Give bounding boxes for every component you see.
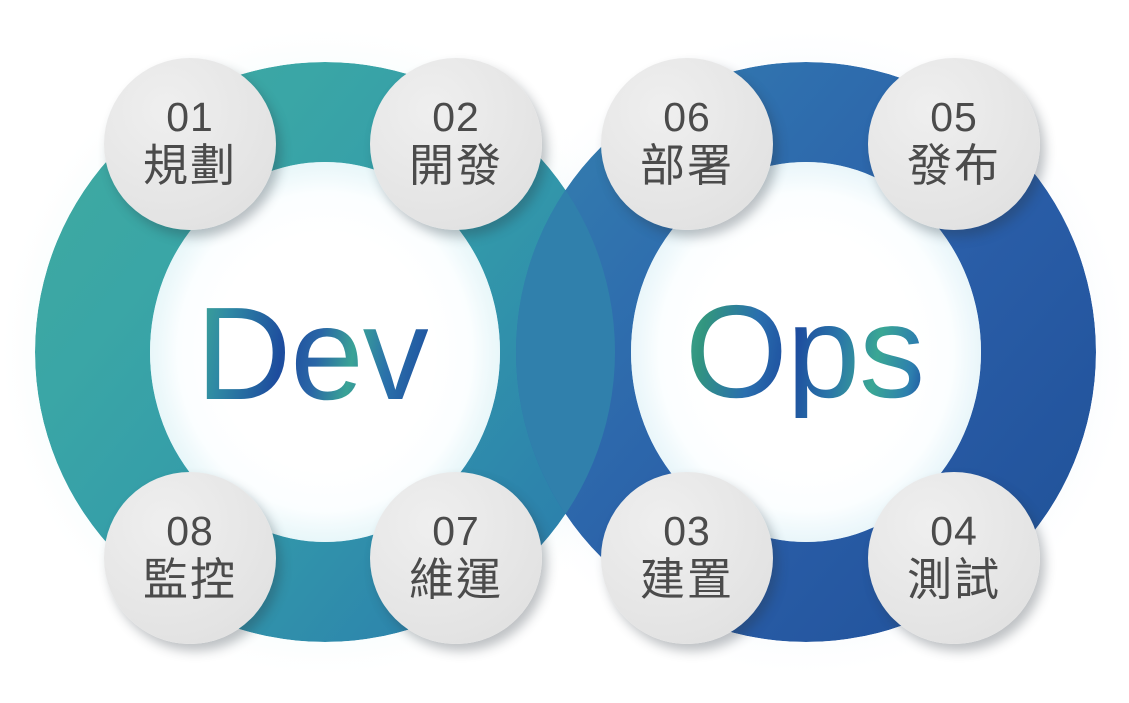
step-label: 部署 bbox=[640, 141, 734, 191]
step-label: 測試 bbox=[907, 555, 1001, 605]
step-badge-04[interactable]: 04 測試 bbox=[868, 472, 1040, 644]
step-badge-02[interactable]: 02 開發 bbox=[370, 58, 542, 230]
step-badge-08[interactable]: 08 監控 bbox=[104, 472, 276, 644]
step-badge-05[interactable]: 05 發布 bbox=[868, 58, 1040, 230]
ops-label: Ops bbox=[685, 286, 924, 418]
step-label: 發布 bbox=[907, 141, 1001, 191]
dev-label: Dev bbox=[196, 288, 428, 420]
step-number: 02 bbox=[432, 97, 480, 139]
step-number: 03 bbox=[663, 511, 711, 553]
step-label: 建置 bbox=[640, 555, 734, 605]
step-number: 06 bbox=[663, 97, 711, 139]
step-badge-06[interactable]: 06 部署 bbox=[601, 58, 773, 230]
step-badge-07[interactable]: 07 維運 bbox=[370, 472, 542, 644]
step-number: 08 bbox=[166, 511, 214, 553]
devops-infinity-diagram: Dev Ops 01 規劃 02 開發 06 部署 05 發布 08 監控 07… bbox=[0, 0, 1129, 703]
step-number: 07 bbox=[432, 511, 480, 553]
step-number: 05 bbox=[930, 97, 978, 139]
step-label: 開發 bbox=[409, 141, 503, 191]
step-label: 監控 bbox=[143, 555, 237, 605]
step-number: 04 bbox=[930, 511, 978, 553]
step-label: 維運 bbox=[409, 555, 503, 605]
step-badge-03[interactable]: 03 建置 bbox=[601, 472, 773, 644]
step-badge-01[interactable]: 01 規劃 bbox=[104, 58, 276, 230]
step-number: 01 bbox=[166, 97, 214, 139]
step-label: 規劃 bbox=[143, 141, 237, 191]
